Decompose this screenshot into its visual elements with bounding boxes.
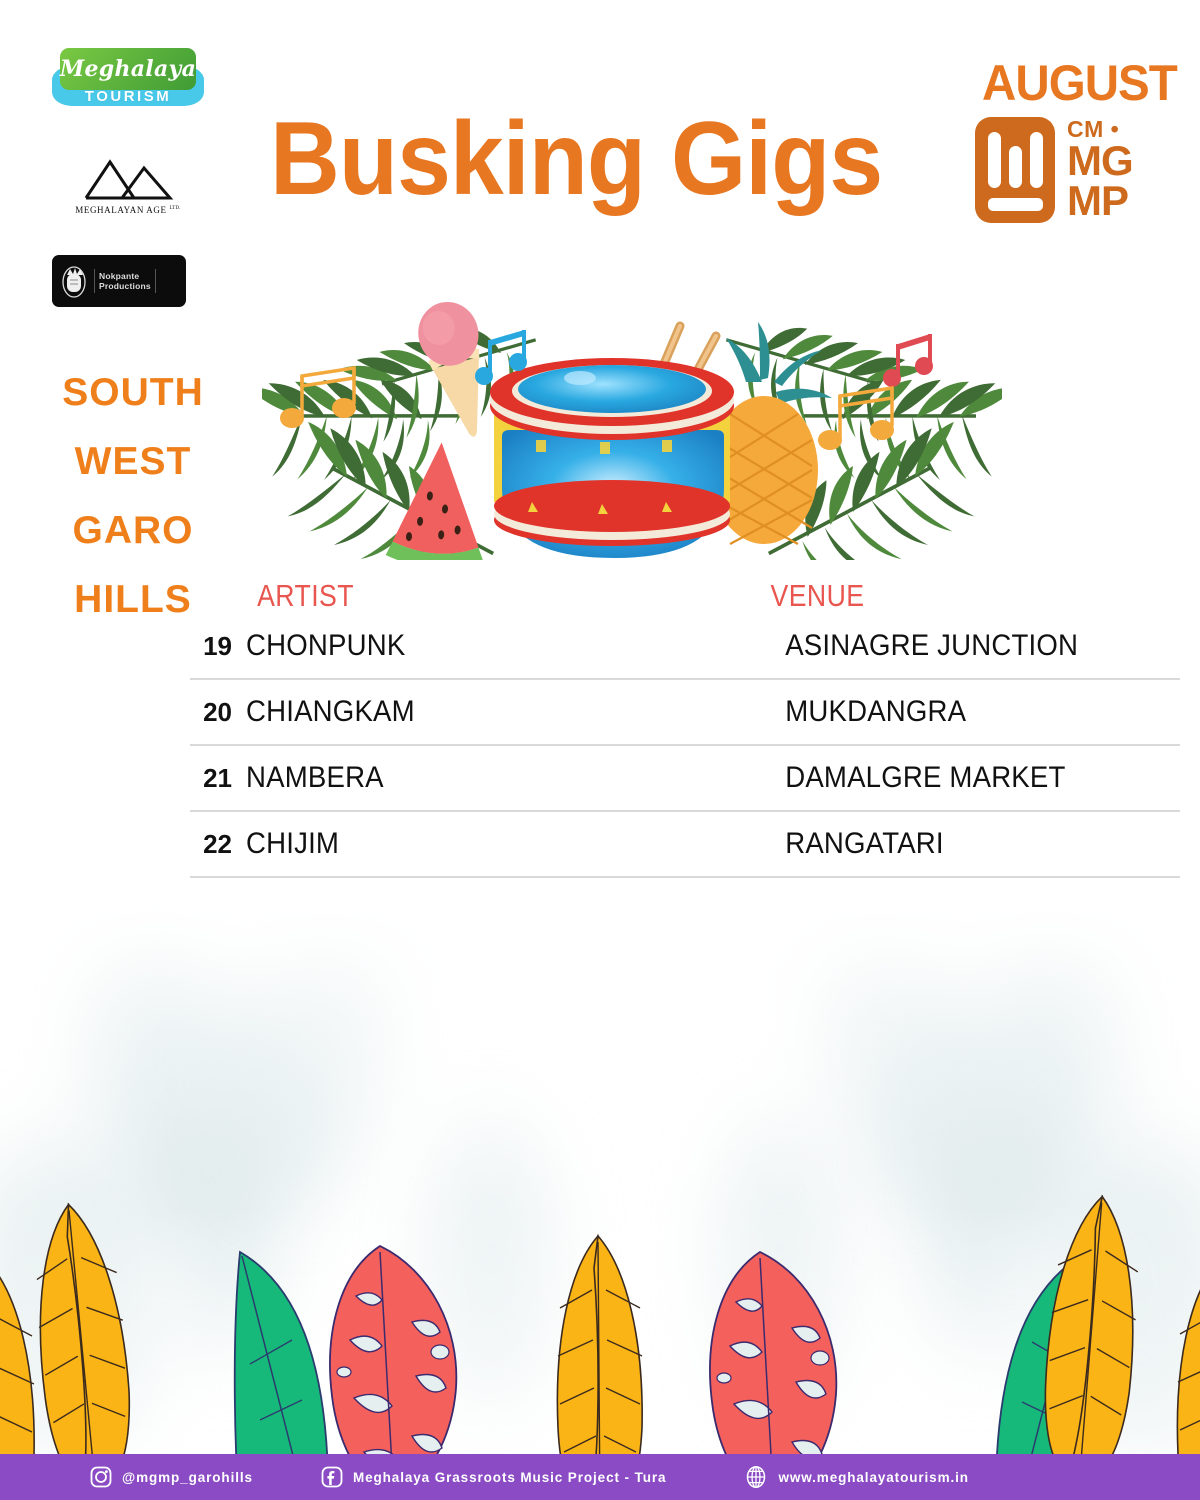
table-row: 19 CHONPUNK ASINAGRE JUNCTION [190, 614, 1180, 680]
month-label: AUGUST [982, 58, 1172, 108]
row-artist: CHONPUNK [246, 629, 734, 663]
social-footer-bar: @mgmp_garohills Meghalaya Grassroots Mus… [0, 1454, 1200, 1500]
row-venue: RANGATARI [776, 827, 1148, 861]
nokpante-line-1: Nokpante [99, 271, 151, 281]
row-artist: CHIJIM [246, 827, 734, 861]
tourism-subtitle: TOURISM [52, 88, 204, 105]
meghalayan-age-logo: MEGHALAYAN AGE LTD. [52, 156, 204, 215]
instagram-handle-label: @mgmp_garohills [122, 1470, 253, 1485]
row-day: 20 [190, 697, 246, 728]
row-venue: ASINAGRE JUNCTION [776, 629, 1148, 663]
column-header-artist: ARTIST [190, 578, 706, 614]
mountain-icon [80, 156, 176, 202]
row-venue: DAMALGRE MARKET [776, 761, 1148, 795]
column-header-venue: VENUE [706, 578, 1178, 614]
table-row: 20 CHIANGKAM MUKDANGRA [190, 680, 1180, 746]
instagram-handle-item[interactable]: @mgmp_garohills [90, 1466, 253, 1488]
row-day: 22 [190, 829, 246, 860]
bottom-leaves-decoration [0, 1176, 1200, 1456]
nokpante-mark-icon [61, 264, 87, 298]
tourism-wordmark: Meghalaya [60, 56, 196, 82]
website-item[interactable]: www.meghalayatourism.in [744, 1465, 969, 1489]
nokpante-productions-logo: Nokpante Productions [52, 255, 186, 307]
region-line-2: WEST [40, 427, 226, 496]
drum-tropical-illustration [262, 288, 1002, 560]
globe-icon [744, 1465, 768, 1489]
row-day: 19 [190, 631, 246, 662]
row-day: 21 [190, 763, 246, 794]
mgmp-mp-label: MP [1067, 181, 1133, 221]
mgmp-august-lockup: AUGUST CM • MG MP [972, 58, 1172, 226]
mgmp-book-icon [972, 114, 1058, 226]
facebook-icon [321, 1466, 343, 1488]
website-label: www.meghalayatourism.in [778, 1470, 969, 1485]
schedule-header-row: ARTIST VENUE [190, 578, 1178, 614]
page-title: Busking Gigs [270, 104, 882, 214]
sponsor-logo-column: Meghalaya TOURISM MEGHALAYAN AGE LTD. No… [52, 48, 212, 307]
gig-schedule-table: ARTIST VENUE 19 CHONPUNK ASINAGRE JUNCTI… [190, 578, 1180, 878]
region-line-3: GARO [40, 496, 226, 565]
meghalayan-age-label: MEGHALAYAN AGE [75, 205, 166, 215]
row-artist: CHIANGKAM [246, 695, 734, 729]
facebook-page-label: Meghalaya Grassroots Music Project - Tur… [353, 1470, 667, 1485]
instagram-icon [90, 1466, 112, 1488]
row-venue: MUKDANGRA [776, 695, 1148, 729]
mgmp-mg-label: MG [1067, 141, 1133, 181]
facebook-page-item[interactable]: Meghalaya Grassroots Music Project - Tur… [321, 1466, 667, 1488]
table-row: 21 NAMBERA DAMALGRE MARKET [190, 746, 1180, 812]
region-line-1: SOUTH [40, 358, 226, 427]
nokpante-line-2: Productions [99, 281, 151, 291]
row-artist: NAMBERA [246, 761, 734, 795]
meghalayan-age-suffix: LTD. [169, 206, 180, 211]
meghalaya-tourism-logo: Meghalaya TOURISM [52, 48, 204, 110]
table-row: 22 CHIJIM RANGATARI [190, 812, 1180, 878]
